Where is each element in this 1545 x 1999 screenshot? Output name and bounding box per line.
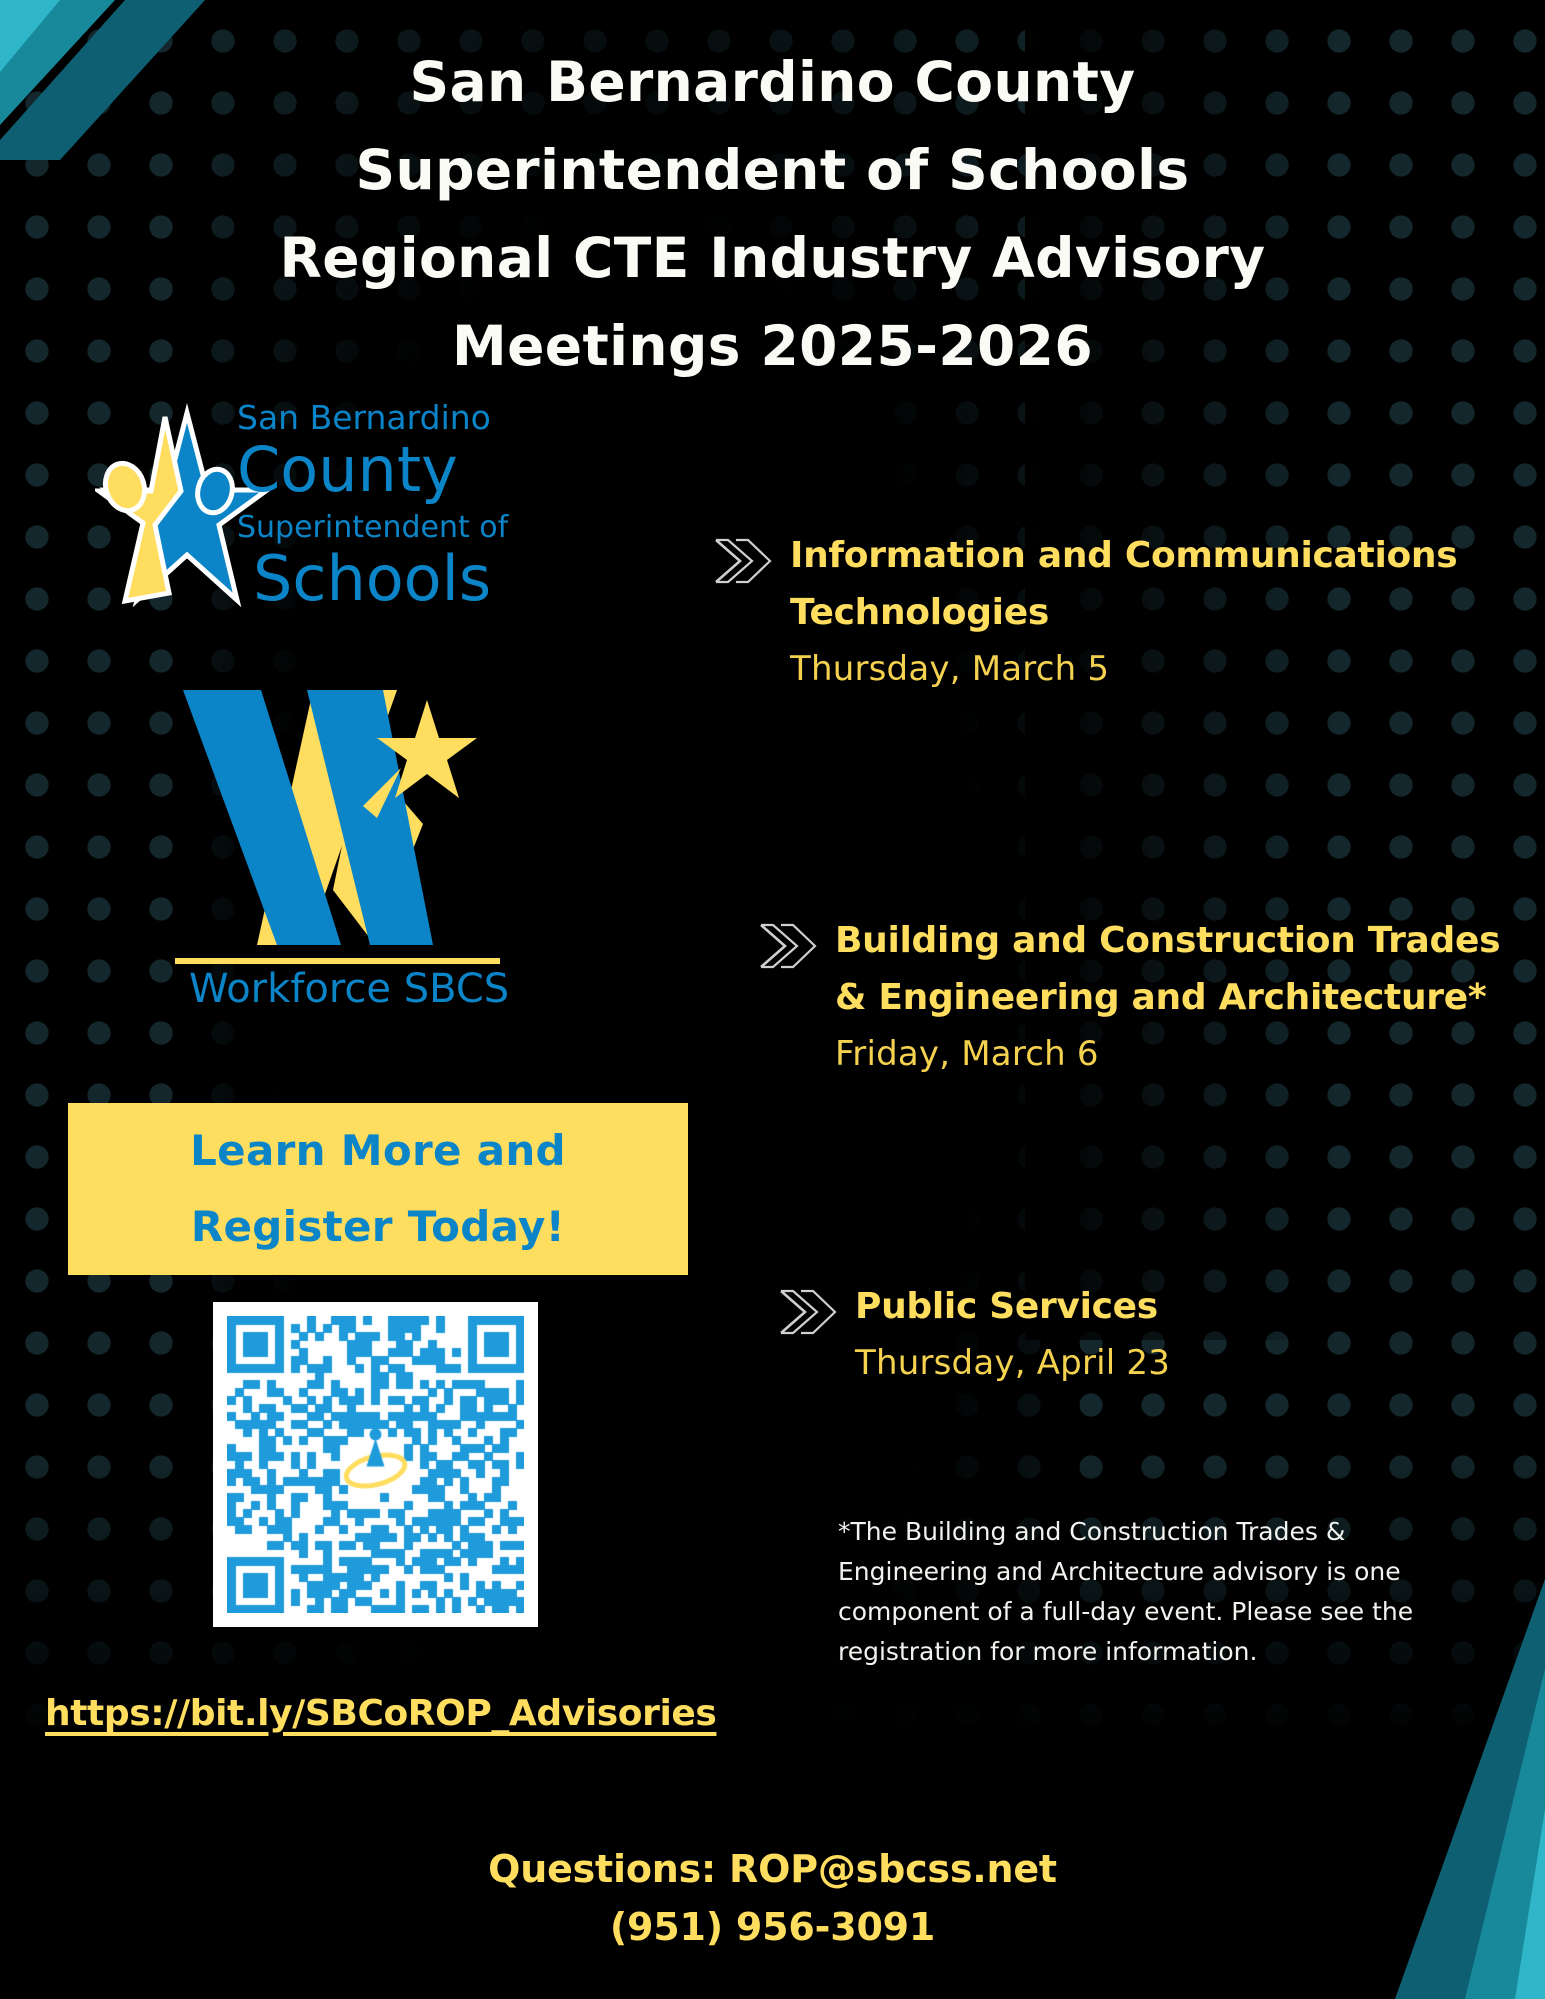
registration-url-link[interactable]: https://bit.ly/SBCoROP_Advisories (45, 1693, 745, 1734)
title-line-1: San Bernardino County (0, 38, 1545, 126)
workforce-underline (175, 958, 500, 964)
workforce-logo-label: Workforce SBCSS (189, 966, 510, 1012)
cta-line-2: Register Today! (191, 1189, 565, 1265)
event-title-line-1: Building and Construction Trades (835, 912, 1500, 969)
contact-email: Questions: ROP@sbcss.net (0, 1840, 1545, 1898)
event-title-line-1: Information and Communications (790, 527, 1457, 584)
qr-code-container[interactable] (213, 1302, 538, 1627)
poster-title: San Bernardino County Superintendent of … (0, 38, 1545, 390)
event-title-line-1: Public Services (855, 1278, 1170, 1335)
event-item-public-services: Public Services Thursday, April 23 (775, 1278, 1170, 1391)
title-line-4: Meetings 2025-2026 (0, 302, 1545, 390)
event-item-information-and-communications-technologies: Information and Communications Technolog… (710, 527, 1457, 697)
double-chevron-right-icon (755, 920, 817, 972)
learn-more-register-banner[interactable]: Learn More and Register Today! (68, 1103, 688, 1275)
title-line-3: Regional CTE Industry Advisory (0, 214, 1545, 302)
double-chevron-right-icon (710, 535, 772, 587)
sbcss-logo: San Bernardino County Superintendent of … (95, 395, 545, 610)
qr-code-icon[interactable] (227, 1316, 524, 1613)
event-date: Thursday, April 23 (855, 1335, 1170, 1391)
sbcss-logo-line-3: Superintendent of (237, 510, 510, 545)
footnote-text: *The Building and Construction Trades & … (838, 1512, 1418, 1672)
contact-block: Questions: ROP@sbcss.net (951) 956-3091 (0, 1840, 1545, 1956)
event-date: Friday, March 6 (835, 1026, 1500, 1082)
contact-phone: (951) 956-3091 (0, 1898, 1545, 1956)
workforce-w-mark (183, 690, 477, 945)
cta-line-1: Learn More and (190, 1113, 566, 1189)
event-title-line-2: & Engineering and Architecture* (835, 969, 1500, 1026)
event-title-line-2: Technologies (790, 584, 1457, 641)
event-date: Thursday, March 5 (790, 641, 1457, 697)
double-chevron-right-icon (775, 1286, 837, 1338)
sbcss-logo-line-2: County (237, 433, 458, 506)
title-line-2: Superintendent of Schools (0, 126, 1545, 214)
sbcss-logo-line-4: Schools (253, 542, 491, 610)
sbcss-logo-line-1: San Bernardino (237, 398, 491, 437)
workforce-sbcss-logo: Workforce SBCSS (165, 690, 510, 1080)
event-item-building-and-construction-trades: Building and Construction Trades & Engin… (755, 912, 1500, 1082)
